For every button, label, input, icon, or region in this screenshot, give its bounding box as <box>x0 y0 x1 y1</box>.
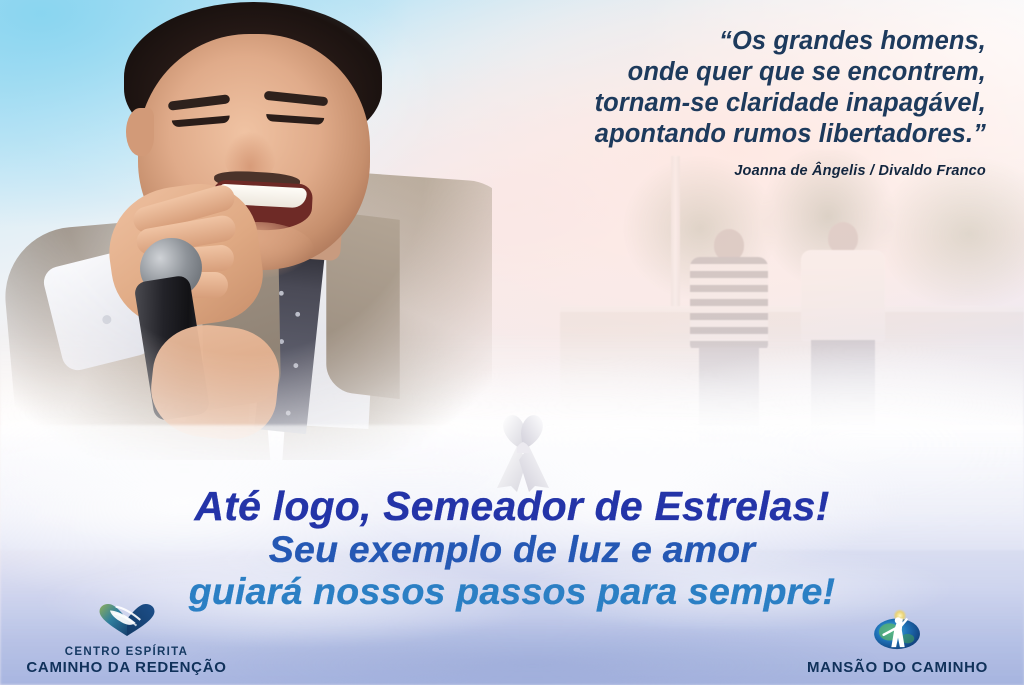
quote-line-3: tornam-se claridade inapagável, <box>386 88 986 119</box>
globe-figure-icon <box>785 609 1010 656</box>
headline-line-1: Até logo, Semeador de Estrelas! <box>0 484 1024 528</box>
logo-left-line-2: CAMINHO DA REDENÇÃO <box>14 659 239 677</box>
quote-line-2: onde quer que se encontrem, <box>386 57 986 88</box>
poster-canvas: “Os grandes homens, onde quer que se enc… <box>0 0 1024 685</box>
logo-centro-espirita: CENTRO ESPÍRITA CAMINHO DA REDENÇÃO <box>14 601 239 677</box>
logo-right-line-2: MANSÃO DO CAMINHO <box>785 659 1010 677</box>
logo-left-line-1: CENTRO ESPÍRITA <box>14 645 239 659</box>
quote-attribution: Joanna de Ângelis / Divaldo Franco <box>386 163 986 179</box>
quote-line-1: “Os grandes homens, <box>386 26 986 57</box>
quote-line-4: apontando rumos libertadores.” <box>386 119 986 150</box>
heart-hands-icon <box>14 601 239 642</box>
quote-block: “Os grandes homens, onde quer que se enc… <box>386 26 986 179</box>
headline-line-2: Seu exemplo de luz e amor <box>0 528 1024 570</box>
logo-mansao-do-caminho: MANSÃO DO CAMINHO <box>785 609 1010 677</box>
headline-block: Até logo, Semeador de Estrelas! Seu exem… <box>0 484 1024 612</box>
background-pole <box>671 156 680 324</box>
white-mourning-ribbon-icon <box>487 410 559 492</box>
portrait-ear <box>126 108 154 156</box>
